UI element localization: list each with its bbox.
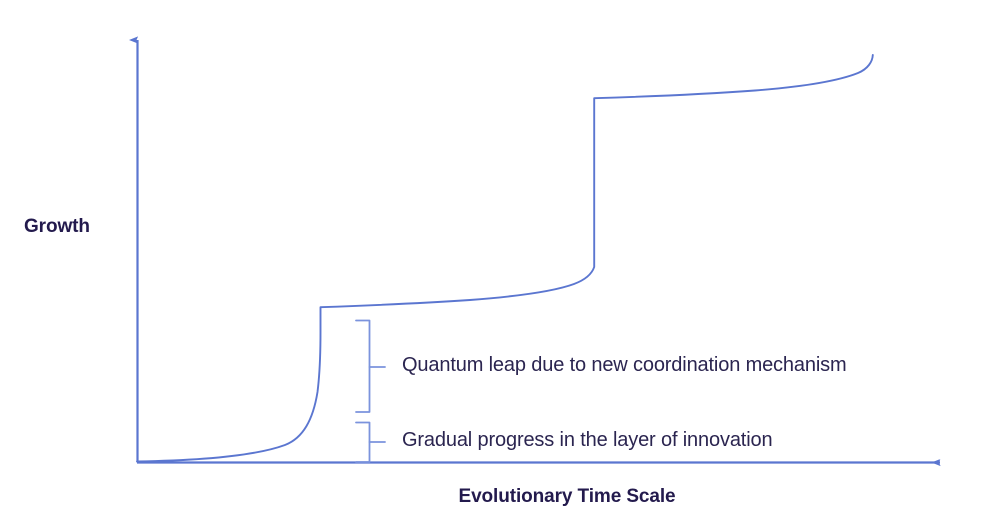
growth-step-curve-chart: Growth Evolutionary Time Scale Quantum l… bbox=[0, 0, 984, 526]
y-axis-title: Growth bbox=[24, 216, 90, 238]
gradual-progress-bracket bbox=[356, 423, 370, 463]
x-axis-title: Evolutionary Time Scale bbox=[0, 486, 984, 508]
annotation-quantum-leap-label: Quantum leap due to new coordination mec… bbox=[402, 354, 846, 377]
growth-curve-line bbox=[137, 55, 873, 462]
annotation-gradual-progress-label: Gradual progress in the layer of innovat… bbox=[402, 429, 772, 452]
quantum-leap-bracket bbox=[356, 321, 370, 413]
